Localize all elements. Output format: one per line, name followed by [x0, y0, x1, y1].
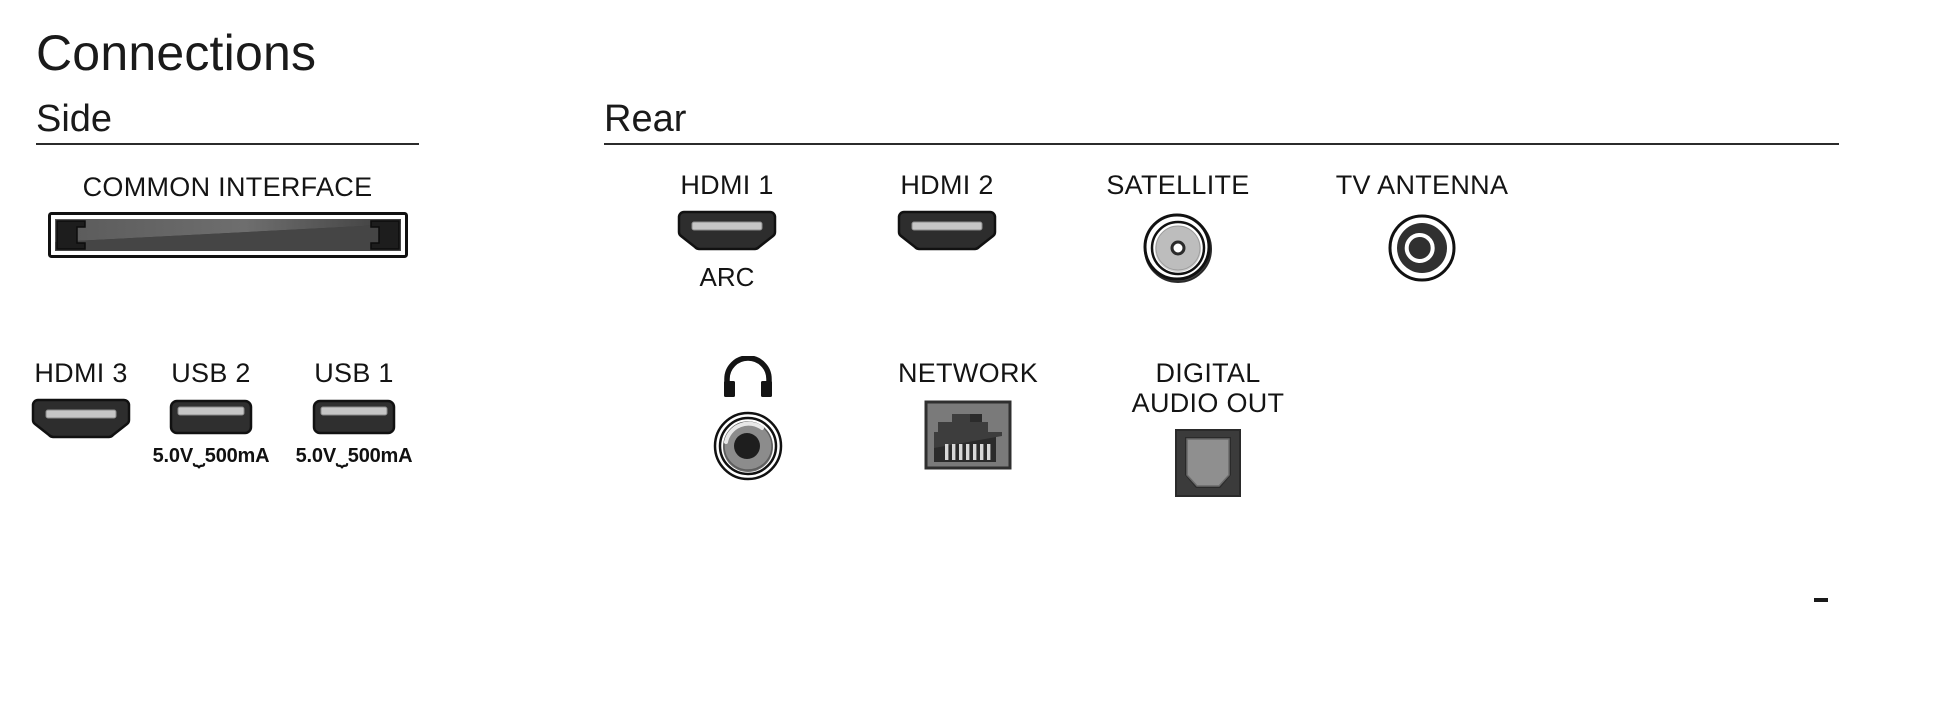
headphone-jack-icon	[712, 410, 784, 482]
section-title-rear: Rear	[604, 100, 686, 138]
port-label-satellite: SATELLITE	[1106, 170, 1249, 200]
port-label-hdmi-3: HDMI 3	[34, 358, 127, 388]
port-sublabel-arc: ARC	[700, 262, 755, 293]
port-usb-1[interactable]: USB 1 5.0V⏟500mA	[281, 358, 427, 468]
usb-a-port-icon	[310, 397, 398, 437]
port-label-hdmi-1: HDMI 1	[680, 170, 773, 200]
section-title-side: Side	[36, 100, 112, 138]
port-hdmi-2[interactable]: HDMI 2	[874, 170, 1020, 252]
port-satellite[interactable]: SATELLITE	[1094, 170, 1262, 286]
port-rating-usb-1: 5.0V⏟500mA	[296, 445, 413, 468]
toslink-optical-port-icon	[1174, 428, 1242, 498]
rj45-port-icon	[924, 400, 1012, 470]
section-rule-rear	[604, 143, 1839, 145]
port-label-hdmi-2: HDMI 2	[900, 170, 993, 200]
port-label-digital-audio-out-line2: AUDIO OUT	[1132, 388, 1285, 418]
hdmi-port-icon	[31, 396, 131, 440]
port-hdmi-1[interactable]: HDMI 1 ARC	[654, 170, 800, 293]
section-rule-side	[36, 143, 419, 145]
port-headphones[interactable]	[694, 356, 802, 482]
port-usb-2[interactable]: USB 2 5.0V⏟500mA	[138, 358, 284, 468]
port-rating-usb-2: 5.0V⏟500mA	[153, 445, 270, 468]
port-digital-audio-out[interactable]: DIGITAL AUDIO OUT	[1098, 358, 1318, 498]
port-hdmi-3[interactable]: HDMI 3	[22, 358, 140, 440]
iec-antenna-port-icon	[1384, 210, 1460, 286]
page-title: Connections	[36, 28, 316, 78]
connections-page: Connections Side COMMON INTERFACE H	[0, 0, 1944, 716]
port-label-tv-antenna: TV ANTENNA	[1336, 170, 1509, 200]
f-coaxial-port-icon	[1140, 210, 1216, 286]
port-network[interactable]: NETWORK	[878, 358, 1058, 470]
usb-a-port-icon	[167, 397, 255, 437]
port-label-common-interface: COMMON INTERFACE	[83, 172, 373, 202]
port-label-usb-1: USB 1	[314, 358, 394, 388]
port-label-network: NETWORK	[898, 358, 1038, 388]
hdmi-port-icon	[897, 208, 997, 252]
stray-dash-mark	[1814, 598, 1828, 602]
hdmi-port-icon	[677, 208, 777, 252]
port-common-interface[interactable]: COMMON INTERFACE	[36, 172, 419, 258]
port-label-usb-2: USB 2	[171, 358, 251, 388]
ci-slot-icon	[48, 212, 408, 258]
headphones-icon	[719, 356, 777, 398]
port-tv-antenna[interactable]: TV ANTENNA	[1322, 170, 1522, 286]
port-label-digital-audio-out-line1: DIGITAL	[1155, 358, 1260, 388]
